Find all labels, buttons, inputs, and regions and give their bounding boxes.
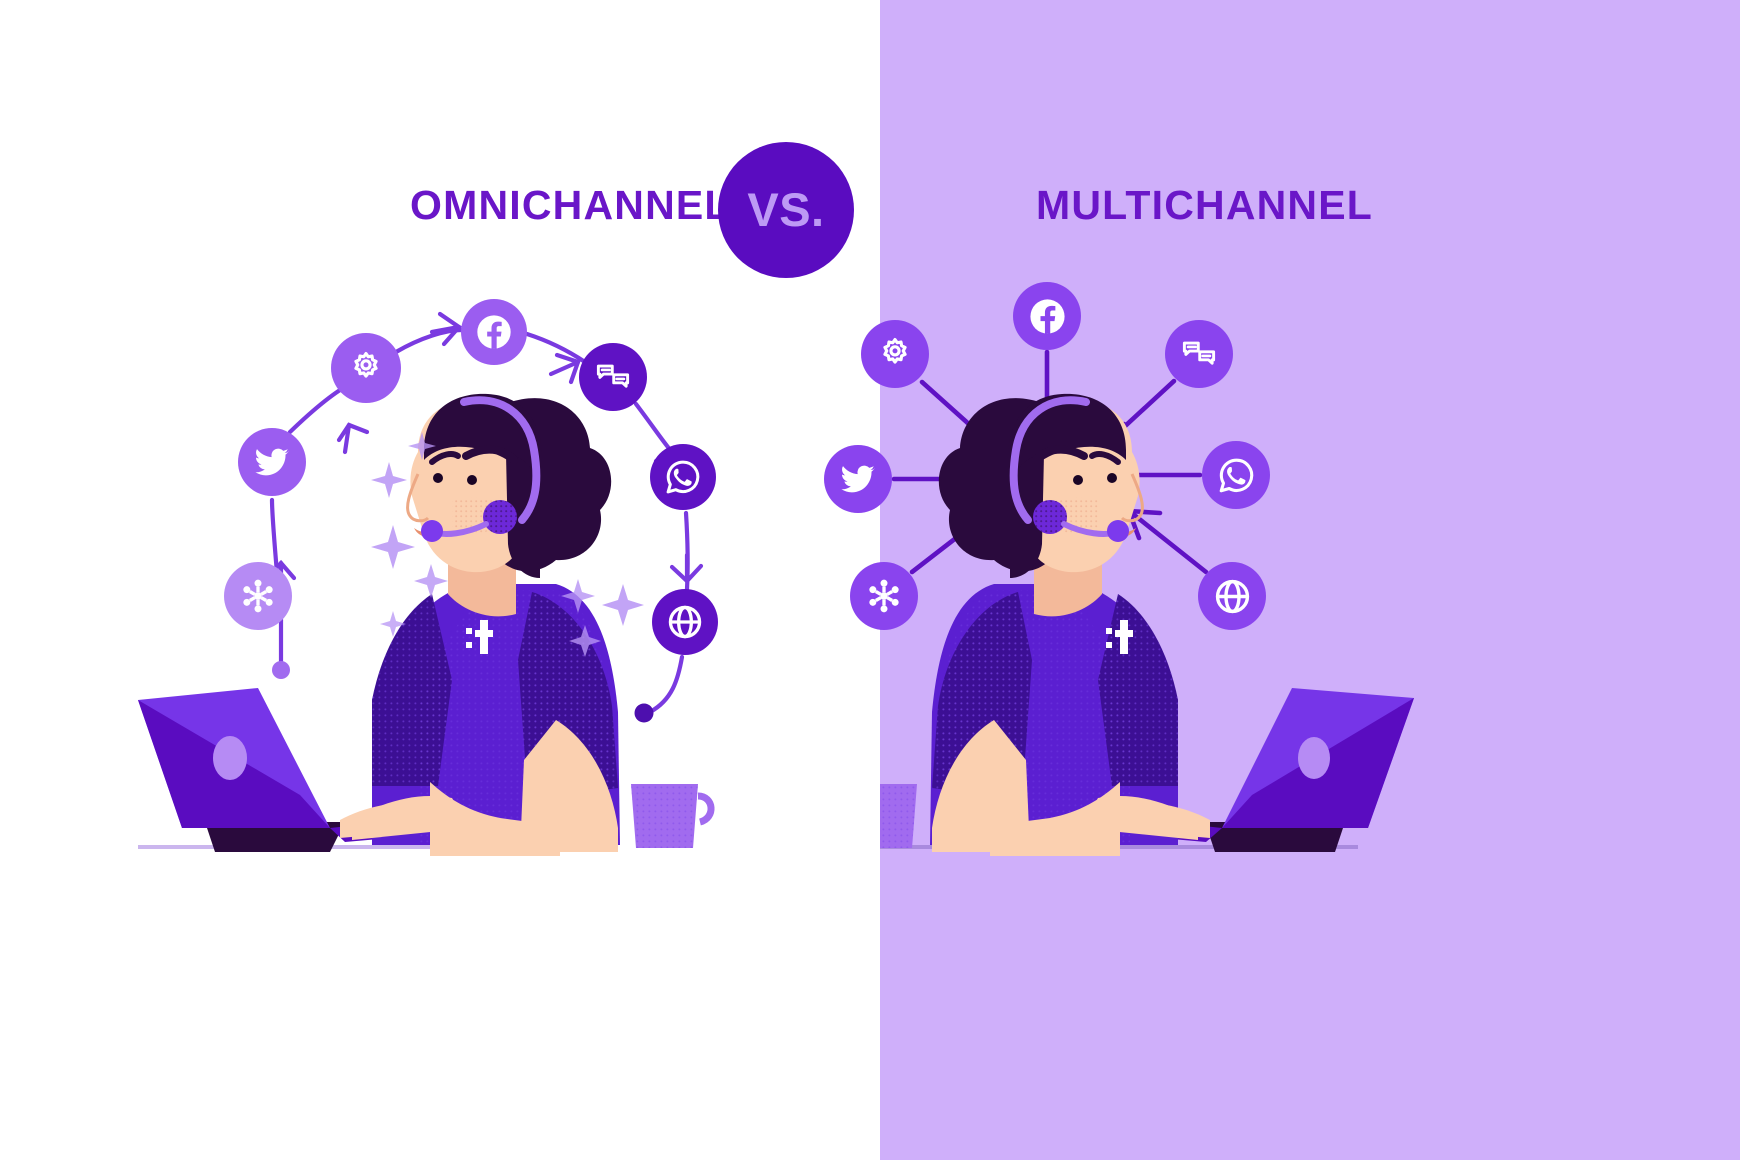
- channel-icon-chat-right[interactable]: [1165, 320, 1233, 388]
- channel-icon-chat-left[interactable]: [579, 343, 647, 411]
- channel-icon-gear-left[interactable]: [331, 333, 401, 403]
- channel-icon-whatsapp-left[interactable]: [650, 444, 716, 510]
- globe-icon: [1213, 577, 1252, 616]
- hub-icon: [238, 576, 278, 616]
- whatsapp-icon: [664, 458, 702, 496]
- multichannel-panel: [880, 0, 1740, 1160]
- versus-badge: VS.: [718, 142, 854, 278]
- channel-icon-facebook-left[interactable]: [461, 299, 527, 365]
- facebook-icon: [1027, 296, 1068, 337]
- chat-bubbles-icon: [1180, 335, 1218, 373]
- gear-icon: [348, 350, 384, 386]
- whatsapp-icon: [1217, 456, 1256, 495]
- gear-icon: [877, 336, 913, 372]
- channel-icon-gear-right[interactable]: [861, 320, 929, 388]
- channel-icon-hub-right[interactable]: [850, 562, 918, 630]
- twitter-icon: [252, 442, 292, 482]
- channel-icon-hub-left[interactable]: [224, 562, 292, 630]
- channel-icon-facebook-right[interactable]: [1013, 282, 1081, 350]
- channel-icon-twitter-left[interactable]: [238, 428, 306, 496]
- chat-bubbles-icon: [594, 358, 632, 396]
- twitter-icon: [838, 459, 878, 499]
- channel-icon-whatsapp-right[interactable]: [1202, 441, 1270, 509]
- left-panel-title: OMNICHANNEL: [410, 182, 731, 229]
- channel-icon-twitter-right[interactable]: [824, 445, 892, 513]
- facebook-icon: [474, 312, 514, 352]
- infographic-canvas: OMNICHANNEL MULTICHANNEL VS.: [0, 0, 1740, 1160]
- channel-icon-globe-right[interactable]: [1198, 562, 1266, 630]
- versus-label: VS.: [747, 182, 824, 237]
- channel-icon-globe-left[interactable]: [652, 589, 718, 655]
- right-panel-title: MULTICHANNEL: [1036, 182, 1373, 229]
- globe-icon: [666, 603, 704, 641]
- hub-icon: [864, 576, 904, 616]
